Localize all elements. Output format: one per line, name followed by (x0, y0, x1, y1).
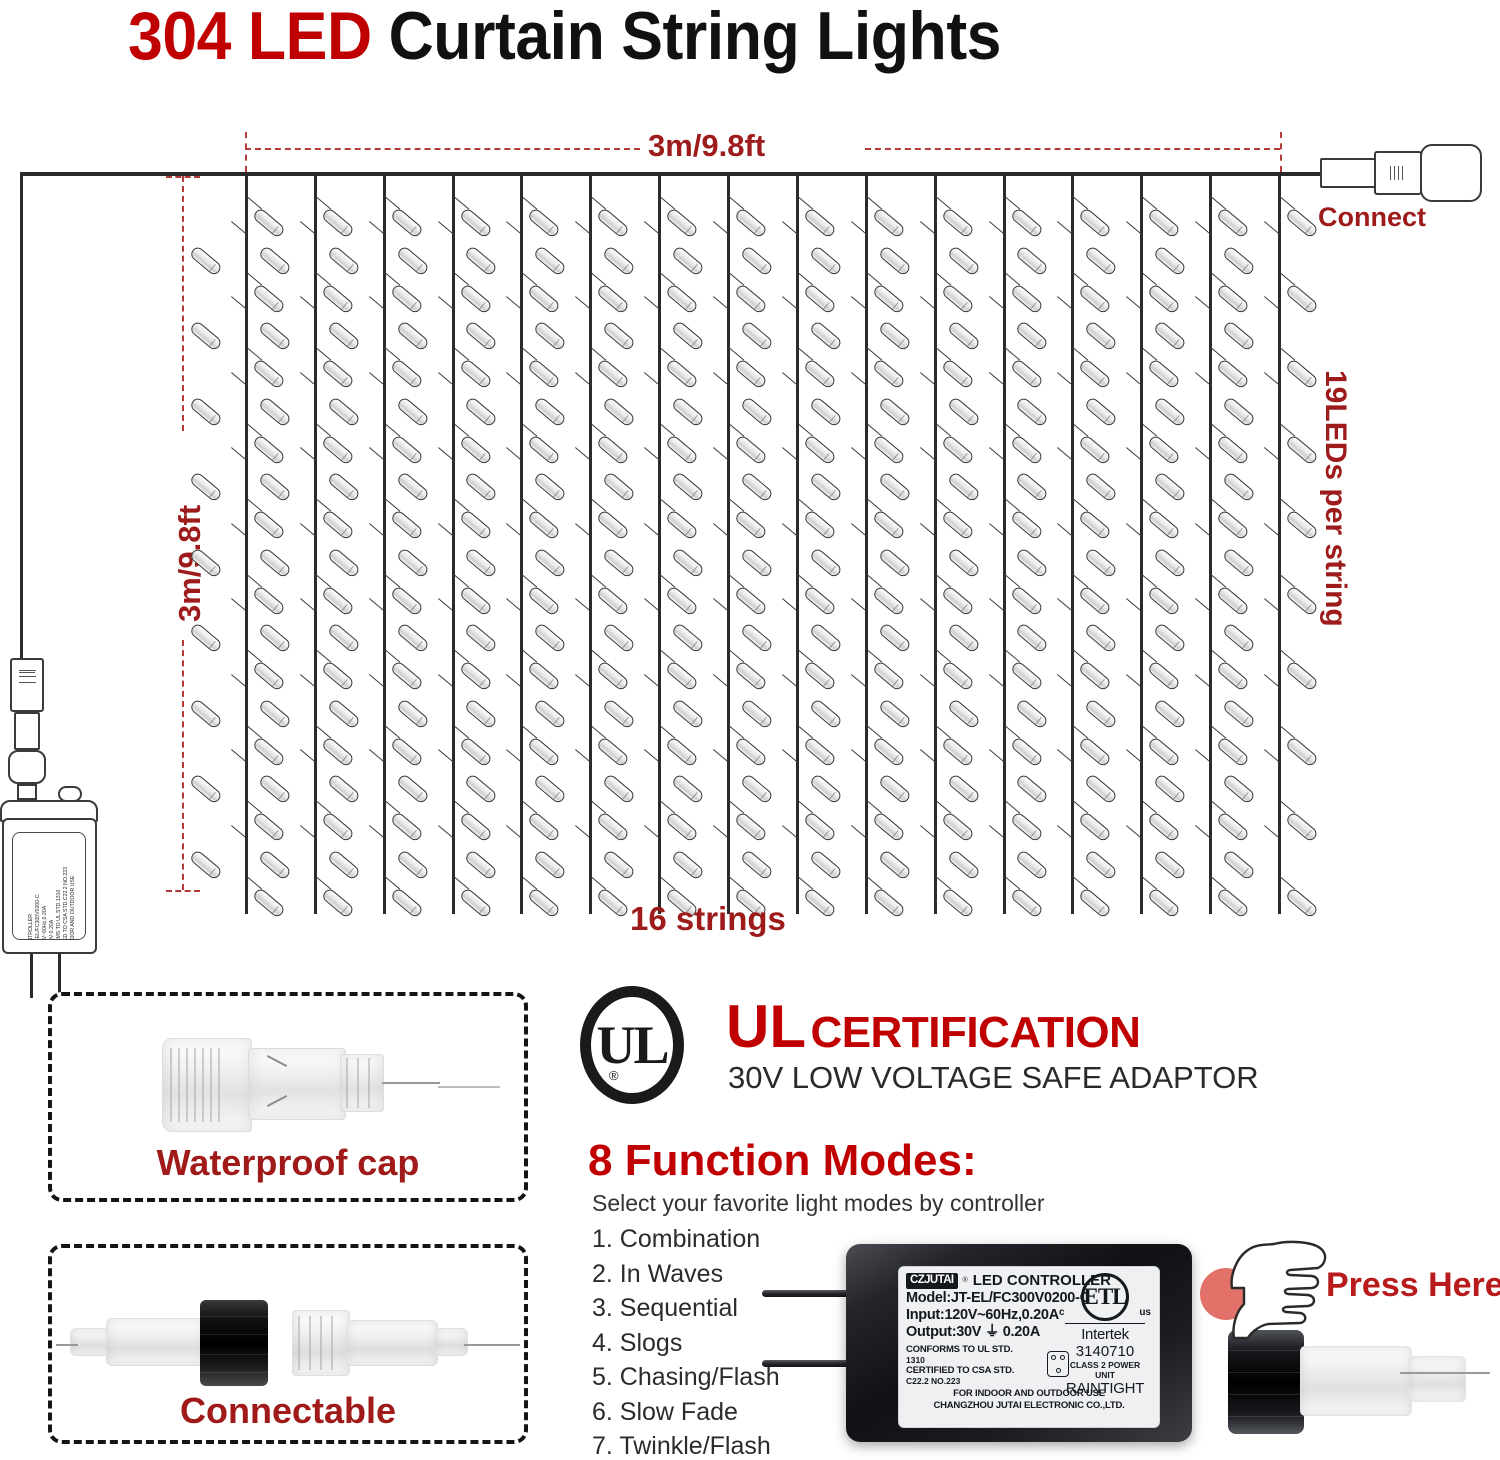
led-bulb (1078, 283, 1112, 315)
led-stem (866, 498, 882, 512)
led-bulb (803, 811, 837, 843)
ul-title: UL CERTIFICATION (726, 992, 1140, 1061)
led-bulb (602, 773, 636, 805)
led-stem (591, 876, 607, 890)
led-bulb (395, 622, 429, 654)
width-label: 3m/9.8ft (648, 128, 765, 164)
led-bulb (596, 660, 630, 692)
led-bulb (389, 283, 423, 315)
page-title: 304 LED Curtain String Lights (128, 2, 1001, 70)
led-bulb (734, 811, 768, 843)
function-modes-list: 1. Combination2. In Waves3. Sequential4.… (592, 1222, 780, 1460)
led-bulb (596, 811, 630, 843)
led-bulb (808, 396, 842, 428)
led-stem (384, 272, 400, 286)
controller-brand: CZJUTAI (906, 1273, 958, 1289)
led-stem (728, 574, 744, 588)
led-stem (246, 423, 262, 437)
led-string (727, 174, 730, 914)
led-stem (591, 347, 607, 361)
led-stem (866, 272, 882, 286)
function-mode-item: 3. Sequential (592, 1291, 780, 1326)
led-bulb (946, 773, 980, 805)
led-stem (797, 272, 813, 286)
led-bulb (326, 773, 360, 805)
led-bulb (1078, 434, 1112, 466)
led-stem (866, 196, 882, 210)
adapter-mini-brand: CZJUTAI (21, 832, 28, 940)
controller-output-clear-tip (1408, 1356, 1466, 1402)
function-mode-item: 2. In Waves (592, 1257, 780, 1292)
led-bulb (1285, 509, 1319, 541)
led-bulb (464, 245, 498, 277)
led-bulb (533, 773, 567, 805)
led-bulb (527, 509, 561, 541)
led-bulb (808, 471, 842, 503)
led-bulb (940, 509, 974, 541)
led-stem (246, 800, 262, 814)
led-stem (1279, 272, 1295, 286)
led-stem (315, 498, 331, 512)
led-stem (1210, 876, 1226, 890)
title-highlight: 304 LED (128, 0, 372, 74)
led-stem (935, 347, 951, 361)
led-bulb (1153, 471, 1187, 503)
led-stem (1210, 347, 1226, 361)
led-string (245, 174, 248, 914)
led-bulb (1084, 698, 1118, 730)
led-bulb (596, 207, 630, 239)
led-bulb (326, 320, 360, 352)
led-stem (246, 347, 262, 361)
led-stem (384, 498, 400, 512)
led-bulb (871, 207, 905, 239)
led-bulb (877, 849, 911, 881)
led-bulb (458, 585, 492, 617)
led-bulb (740, 547, 774, 579)
led-stem (384, 649, 400, 663)
led-bulb (734, 509, 768, 541)
led-stem (660, 347, 676, 361)
led-bulb (740, 471, 774, 503)
controller-output-clear-connector (1300, 1346, 1412, 1416)
led-stem (453, 800, 469, 814)
led-bulb (326, 471, 360, 503)
led-bulb (1009, 887, 1043, 919)
led-bulb (1153, 622, 1187, 654)
led-stem (315, 423, 331, 437)
led-bulb (252, 736, 286, 768)
led-bulb (665, 585, 699, 617)
led-string (1278, 174, 1281, 914)
controller-company: CHANGZHOU JUTAI ELECTRONIC CO.,LTD. (906, 1400, 1152, 1411)
led-bulb (189, 396, 223, 428)
led-stem (728, 272, 744, 286)
led-bulb (1084, 320, 1118, 352)
led-bulb (1222, 245, 1256, 277)
led-bulb (1078, 358, 1112, 390)
led-bulb (1015, 698, 1049, 730)
led-bulb (1078, 736, 1112, 768)
led-bulb (1216, 887, 1250, 919)
led-stem (1210, 800, 1226, 814)
led-bulb (321, 207, 355, 239)
led-stem (728, 725, 744, 739)
function-mode-item: 5. Chasing/Flash (592, 1360, 780, 1395)
led-bulb (1084, 245, 1118, 277)
led-bulb (1153, 245, 1187, 277)
led-stem (1073, 725, 1089, 739)
connector-knob (200, 1300, 268, 1386)
led-stem (797, 423, 813, 437)
led-stem (1210, 649, 1226, 663)
led-bulb (395, 547, 429, 579)
led-stem (315, 800, 331, 814)
led-bulb (871, 509, 905, 541)
led-bulb (871, 283, 905, 315)
led-bulb (1216, 509, 1250, 541)
led-bulb (877, 396, 911, 428)
connect-label: Connect (1318, 202, 1426, 233)
etl-intertek: Intertek (1059, 1326, 1151, 1343)
led-bulb (871, 660, 905, 692)
led-bulb (596, 509, 630, 541)
led-bulb (665, 207, 699, 239)
led-bulb (1147, 585, 1181, 617)
led-stem (728, 423, 744, 437)
led-bulb (458, 811, 492, 843)
led-bulb (1216, 585, 1250, 617)
led-bulb (803, 887, 837, 919)
led-stem (1004, 498, 1020, 512)
led-bulb (321, 358, 355, 390)
led-stem (1279, 423, 1295, 437)
led-bulb (740, 698, 774, 730)
led-bulb (803, 660, 837, 692)
led-bulb (389, 434, 423, 466)
led-stem (1004, 725, 1020, 739)
led-stem (453, 574, 469, 588)
led-stem (1210, 196, 1226, 210)
led-bulb (877, 471, 911, 503)
led-bulb (946, 622, 980, 654)
led-bulb (946, 245, 980, 277)
led-bulb (665, 736, 699, 768)
adapter-prong-left (30, 954, 33, 998)
led-stem (935, 272, 951, 286)
led-stem (1279, 196, 1295, 210)
led-stem (1210, 423, 1226, 437)
led-bulb (671, 849, 705, 881)
led-bulb (1009, 358, 1043, 390)
led-bulb (665, 509, 699, 541)
led-stem (246, 649, 262, 663)
led-bulb (740, 849, 774, 881)
led-stem (1142, 272, 1158, 286)
led-stem (453, 423, 469, 437)
led-stem (315, 649, 331, 663)
led-stem (246, 876, 262, 890)
led-stem (453, 498, 469, 512)
led-stem (935, 196, 951, 210)
led-bulb (533, 698, 567, 730)
ul-subtitle: 30V LOW VOLTAGE SAFE ADAPTOR (728, 1060, 1259, 1096)
led-stem (1279, 725, 1295, 739)
led-bulb (252, 887, 286, 919)
led-stem (453, 876, 469, 890)
led-bulb (326, 849, 360, 881)
led-bulb (464, 320, 498, 352)
connectable-caption: Connectable (52, 1390, 524, 1432)
led-bulb (464, 471, 498, 503)
led-bulb (734, 358, 768, 390)
led-bulb (602, 622, 636, 654)
led-bulb (1216, 736, 1250, 768)
led-bulb (189, 622, 223, 654)
led-bulb (671, 622, 705, 654)
led-string (589, 174, 592, 914)
led-bulb (665, 358, 699, 390)
led-stem (1210, 725, 1226, 739)
led-stem (246, 498, 262, 512)
led-stem (1142, 800, 1158, 814)
led-bulb (1078, 887, 1112, 919)
led-stem (1073, 800, 1089, 814)
led-stem (453, 196, 469, 210)
led-bulb (596, 736, 630, 768)
led-stem (384, 876, 400, 890)
led-bulb (252, 509, 286, 541)
led-bulb (464, 849, 498, 881)
led-string (1003, 174, 1006, 914)
led-stem (522, 574, 538, 588)
led-bulb (1078, 509, 1112, 541)
led-bulb (1015, 396, 1049, 428)
led-bulb (871, 736, 905, 768)
led-stem (1142, 196, 1158, 210)
led-bulb (1147, 434, 1181, 466)
led-stem (384, 347, 400, 361)
led-stem (728, 498, 744, 512)
led-bulb (871, 434, 905, 466)
led-bulb (326, 396, 360, 428)
led-bulb (877, 245, 911, 277)
controller-output-wire (1400, 1372, 1490, 1374)
led-stem (591, 649, 607, 663)
led-stem (1004, 574, 1020, 588)
led-bulb (803, 509, 837, 541)
led-string (520, 174, 523, 914)
led-stem (315, 347, 331, 361)
led-bulb (395, 849, 429, 881)
led-bulb (464, 396, 498, 428)
led-bulb (1078, 585, 1112, 617)
led-bulb (1015, 471, 1049, 503)
led-stem (866, 347, 882, 361)
led-bulb (946, 849, 980, 881)
led-bulb (946, 320, 980, 352)
led-stem (384, 574, 400, 588)
controller-pin-diagram-icon (1047, 1351, 1069, 1377)
led-bulb (1015, 245, 1049, 277)
title-rest: Curtain String Lights (372, 0, 1001, 74)
led-bulb (458, 207, 492, 239)
led-bulb (671, 547, 705, 579)
led-bulb (321, 585, 355, 617)
led-string (934, 174, 937, 914)
function-mode-item: 1. Combination (592, 1222, 780, 1257)
led-bulb (1078, 811, 1112, 843)
led-bulb (1084, 547, 1118, 579)
led-bulb (1222, 773, 1256, 805)
led-stem (1073, 876, 1089, 890)
led-bulb (389, 660, 423, 692)
led-string (865, 174, 868, 914)
led-bulb (1216, 283, 1250, 315)
led-strings-group (0, 174, 1500, 914)
led-stem (797, 347, 813, 361)
led-stem (1279, 876, 1295, 890)
width-dimension-line-right (865, 148, 1280, 150)
led-bulb (1222, 396, 1256, 428)
led-bulb (602, 547, 636, 579)
led-bulb (1285, 358, 1319, 390)
led-bulb (189, 245, 223, 277)
led-bulb (665, 434, 699, 466)
led-bulb (871, 887, 905, 919)
led-bulb (1009, 736, 1043, 768)
led-bulb (1015, 849, 1049, 881)
controller-label: CZJUTAI ® LED CONTROLLER Model:JT-EL/FC3… (898, 1266, 1160, 1428)
led-stem (246, 574, 262, 588)
adapter-mini-line4: Output:30V 0.20A (49, 920, 55, 940)
led-bulb (1222, 547, 1256, 579)
led-bulb (258, 622, 292, 654)
press-here-label: Press Here (1326, 1266, 1500, 1305)
led-bulb (877, 698, 911, 730)
led-stem (384, 725, 400, 739)
led-stem (866, 800, 882, 814)
led-bulb (321, 283, 355, 315)
etl-raintight: RAINTIGHT (1059, 1380, 1151, 1397)
led-stem (866, 876, 882, 890)
led-string (1071, 174, 1074, 914)
led-stem (866, 725, 882, 739)
led-bulb (877, 622, 911, 654)
led-bulb (1009, 585, 1043, 617)
led-bulb (321, 660, 355, 692)
led-bulb (1285, 207, 1319, 239)
led-stem (935, 423, 951, 437)
led-bulb (189, 320, 223, 352)
led-bulb (527, 358, 561, 390)
led-stem (453, 347, 469, 361)
adapter-mini-line7: FOR INDOOR AND OUTDOOR USE (70, 876, 76, 940)
led-stem (246, 725, 262, 739)
ul-title-big: UL (726, 993, 806, 1060)
led-bulb (1147, 358, 1181, 390)
function-mode-item: 6. Slow Fade (592, 1395, 780, 1430)
led-stem (1073, 347, 1089, 361)
led-bulb (946, 396, 980, 428)
led-bulb (1084, 773, 1118, 805)
led-bulb (458, 660, 492, 692)
led-bulb (596, 283, 630, 315)
led-bulb (871, 358, 905, 390)
led-stem (591, 272, 607, 286)
led-bulb (258, 245, 292, 277)
led-stem (1279, 800, 1295, 814)
led-bulb (321, 887, 355, 919)
strings-count-label: 16 strings (630, 900, 786, 938)
led-bulb (464, 622, 498, 654)
led-string (314, 174, 317, 914)
led-bulb (734, 736, 768, 768)
led-bulb (665, 283, 699, 315)
led-bulb (1285, 736, 1319, 768)
led-stem (1004, 649, 1020, 663)
led-bulb (395, 698, 429, 730)
led-bulb (1216, 207, 1250, 239)
function-modes-title: 8 Function Modes: (588, 1136, 977, 1186)
led-bulb (1153, 698, 1187, 730)
led-bulb (527, 283, 561, 315)
led-bulb (803, 207, 837, 239)
led-bulb (1285, 283, 1319, 315)
led-stem (1279, 347, 1295, 361)
led-stem (591, 196, 607, 210)
led-bulb (389, 207, 423, 239)
led-stem (797, 725, 813, 739)
led-bulb (1009, 283, 1043, 315)
led-stem (522, 272, 538, 286)
led-bulb (258, 396, 292, 428)
led-bulb (458, 358, 492, 390)
led-stem (384, 196, 400, 210)
led-stem (453, 649, 469, 663)
led-bulb (258, 698, 292, 730)
function-modes-subtitle: Select your favorite light modes by cont… (592, 1190, 1045, 1217)
led-stem (728, 196, 744, 210)
led-string (796, 174, 799, 914)
led-bulb (740, 773, 774, 805)
led-bulb (734, 660, 768, 692)
led-stem (384, 423, 400, 437)
led-bulb (1009, 434, 1043, 466)
led-bulb (189, 849, 223, 881)
led-bulb (602, 849, 636, 881)
led-bulb (665, 811, 699, 843)
led-bulb (1009, 660, 1043, 692)
led-bulb (527, 736, 561, 768)
led-bulb (734, 207, 768, 239)
led-bulb (1147, 660, 1181, 692)
led-bulb (1153, 320, 1187, 352)
led-string (1209, 174, 1212, 914)
led-bulb (527, 811, 561, 843)
led-bulb (252, 207, 286, 239)
led-bulb (458, 509, 492, 541)
function-mode-item: 4. Slogs (592, 1326, 780, 1361)
led-bulb (1147, 736, 1181, 768)
led-stem (315, 876, 331, 890)
led-bulb (871, 811, 905, 843)
function-mode-item: 7. Twinkle/Flash (592, 1429, 780, 1460)
led-bulb (803, 283, 837, 315)
led-bulb (1153, 396, 1187, 428)
adapter-mini-label: CZJUTAI LED CONTROLLER Model:JT-EL/FC300… (12, 832, 86, 940)
led-bulb (252, 811, 286, 843)
